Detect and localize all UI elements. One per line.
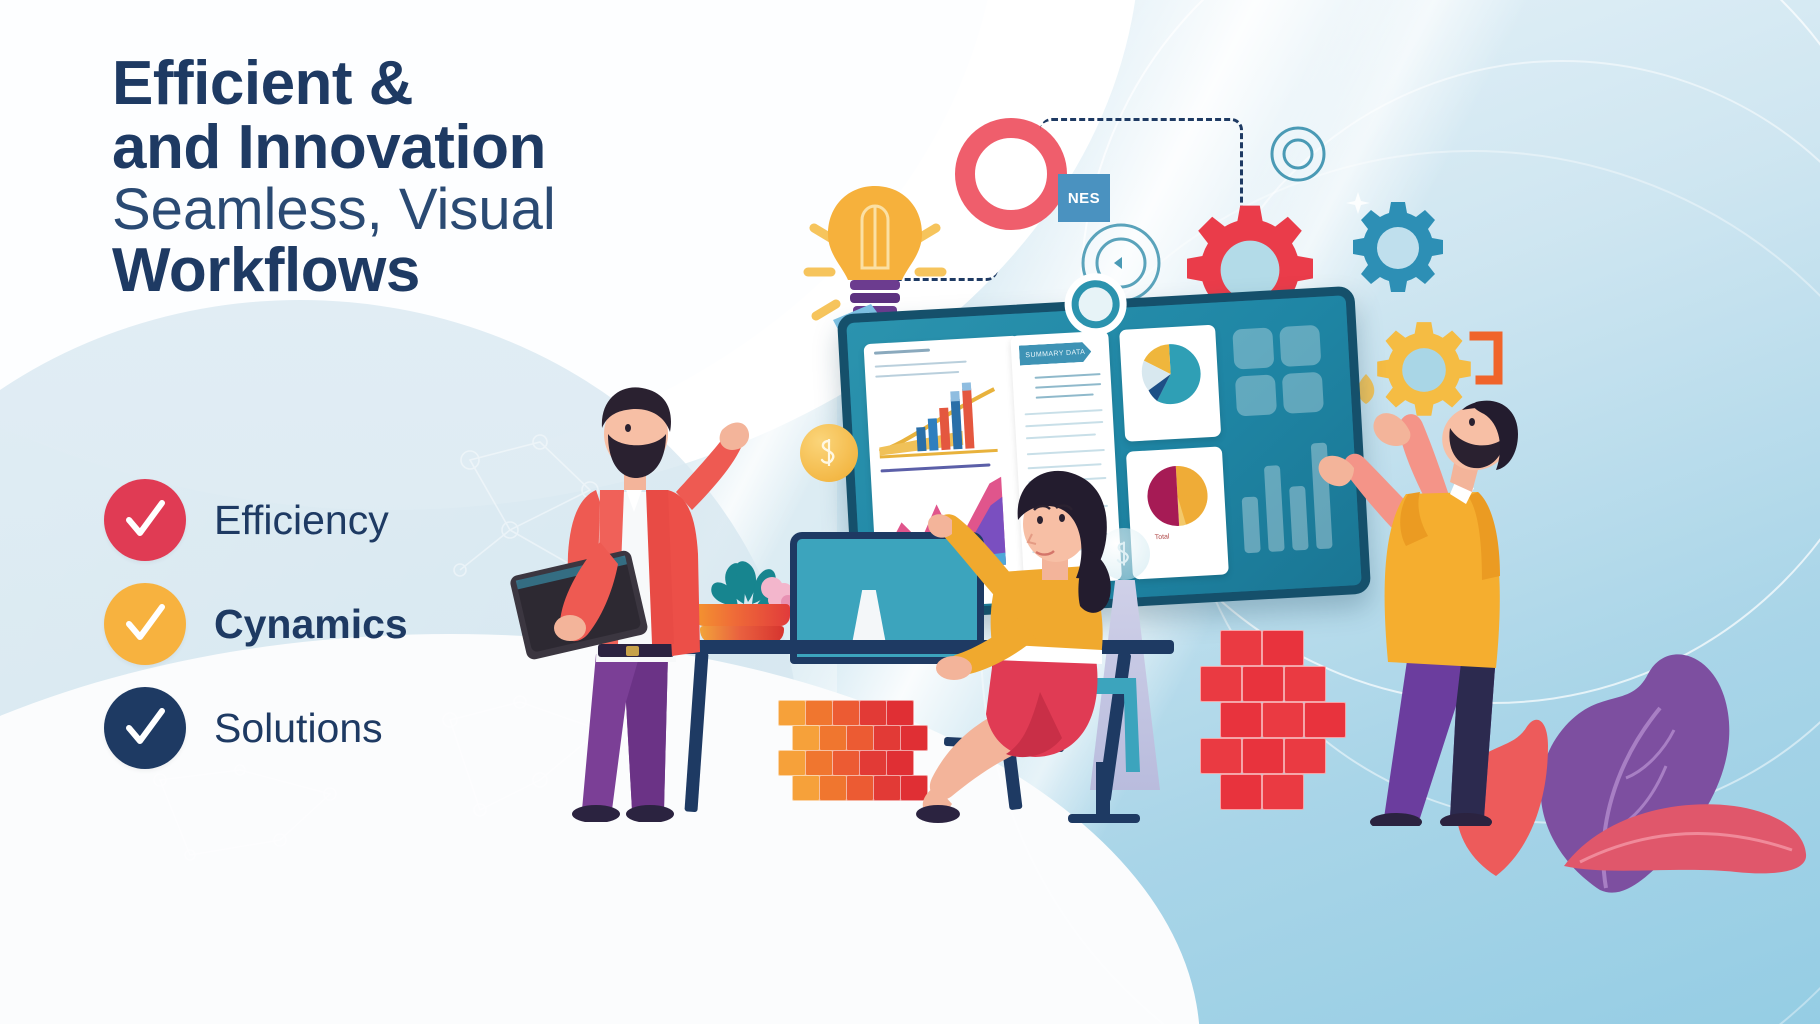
document-badge: SUMMARY DATA	[1019, 342, 1092, 366]
brick	[778, 700, 806, 726]
document-line	[1025, 421, 1103, 427]
chart-panel-text-line-2	[875, 371, 959, 378]
brick	[819, 725, 847, 751]
brick	[805, 750, 833, 776]
brick	[1200, 666, 1242, 702]
person-celebrating-man	[1260, 376, 1560, 826]
pie-chart-1	[1136, 339, 1206, 409]
check-badge-efficiency	[104, 479, 186, 561]
brick	[846, 725, 874, 751]
document-line	[1036, 393, 1094, 398]
brick	[846, 775, 874, 801]
brick	[1220, 774, 1262, 810]
brick	[778, 750, 806, 776]
check-icon	[119, 598, 171, 650]
check-icon	[119, 702, 171, 754]
checklist-label-solutions: Solutions	[214, 705, 383, 752]
headline-line-2: and Innovation	[112, 116, 752, 180]
check-badge-solutions	[104, 687, 186, 769]
headline-line-1: Efficient &	[112, 52, 752, 116]
headline-line-4: Workflows	[112, 239, 752, 303]
document-line	[1035, 383, 1101, 389]
headline-line-3: Seamless, Visual	[112, 180, 752, 240]
document-line	[1035, 373, 1101, 379]
red-leaf-decoration	[1560, 770, 1810, 880]
checklist-item-cynamics[interactable]: Cynamics	[104, 572, 534, 676]
brick	[832, 750, 860, 776]
checklist-label-efficiency: Efficiency	[214, 497, 389, 544]
brick	[1220, 630, 1262, 666]
panel-pie-chart-1[interactable]	[1119, 325, 1221, 442]
dashboard-tile[interactable]	[1279, 325, 1321, 367]
brick	[832, 700, 860, 726]
chart-panel-text-line-1	[875, 361, 967, 368]
dashboard-minibar	[1242, 496, 1261, 553]
document-line	[1027, 449, 1105, 455]
brick	[859, 750, 887, 776]
nes-badge: NES	[1058, 174, 1110, 222]
page-title: Efficient & and Innovation Seamless, Vis…	[112, 52, 752, 303]
checklist-item-solutions[interactable]: Solutions	[104, 676, 534, 780]
checklist-item-efficiency[interactable]: Efficiency	[104, 468, 534, 572]
hero-banner: Efficient & and Innovation Seamless, Vis…	[0, 0, 1820, 1024]
brick	[805, 700, 833, 726]
check-icon	[119, 494, 171, 546]
target-circles-icon	[1268, 124, 1328, 184]
feature-checklist: Efficiency Cynamics Solutions	[104, 468, 534, 780]
dashboard-tile[interactable]	[1232, 327, 1274, 369]
document-line	[1026, 433, 1096, 439]
document-line	[1025, 409, 1103, 415]
brick	[1220, 702, 1262, 738]
brick	[859, 700, 887, 726]
brick	[1200, 738, 1242, 774]
checklist-label-cynamics: Cynamics	[214, 601, 408, 648]
brick	[792, 725, 820, 751]
person-standing-with-tablet	[500, 372, 780, 822]
bar-chart	[872, 379, 1004, 464]
brick	[792, 775, 820, 801]
check-badge-cynamics	[104, 583, 186, 665]
coin-icon	[800, 424, 858, 482]
person-seated-woman	[890, 462, 1160, 832]
chart-panel-title-line	[874, 349, 930, 355]
gear-blue-icon	[1348, 198, 1448, 298]
brick	[819, 775, 847, 801]
